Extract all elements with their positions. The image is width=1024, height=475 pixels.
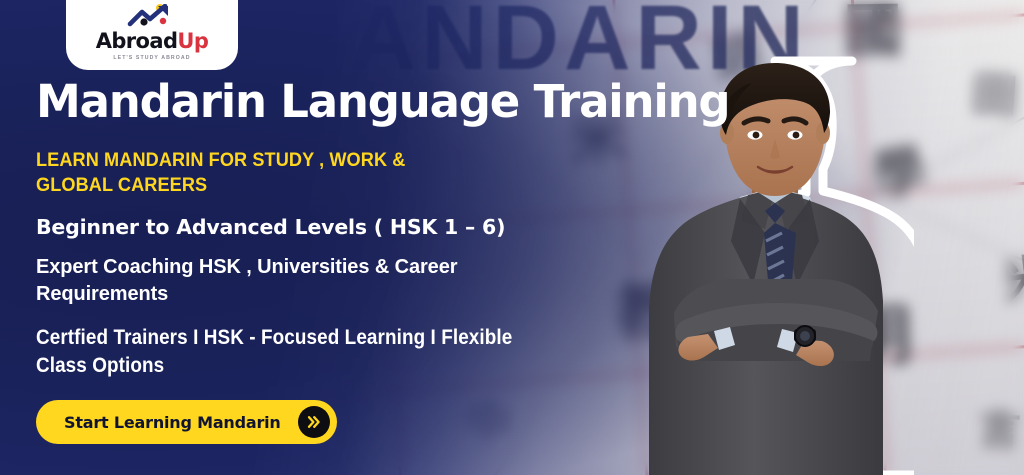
hero-bullet-trainers: Certfied Trainers I HSK - Focused Learni…	[36, 324, 540, 379]
brand-word-accent: Up	[177, 29, 208, 53]
brand-tagline: LET'S STUDY ABROAD	[113, 55, 190, 61]
double-chevron-right-icon	[298, 406, 330, 438]
brand-word-primary: Abroad	[96, 29, 178, 53]
brand-wordmark: AbroadUp	[96, 31, 209, 52]
hero-bullet-coaching: Expert Coaching HSK , Universities & Car…	[36, 254, 536, 308]
start-learning-mandarin-button[interactable]: Start Learning Mandarin	[36, 400, 337, 444]
page-title: Mandarin Language Training	[36, 78, 736, 126]
hero-copy: Mandarin Language Training LEARN MANDARI…	[36, 78, 736, 379]
cta-label: Start Learning Mandarin	[64, 413, 281, 432]
brand-logo-card[interactable]: AbroadUp LET'S STUDY ABROAD	[66, 0, 238, 70]
wristwatch	[794, 326, 816, 346]
mandarin-training-banner: 国 言 文 中 米 教 語 書 字 國 學 明 田 米 言 MANDARIN	[0, 0, 1024, 475]
hero-bullet-levels: Beginner to Advanced Levels ( HSK 1 – 6)	[36, 214, 556, 241]
upward-growth-arrow-icon	[120, 4, 184, 30]
hero-subheadline: LEARN MANDARIN FOR STUDY , WORK & GLOBAL…	[36, 148, 473, 198]
